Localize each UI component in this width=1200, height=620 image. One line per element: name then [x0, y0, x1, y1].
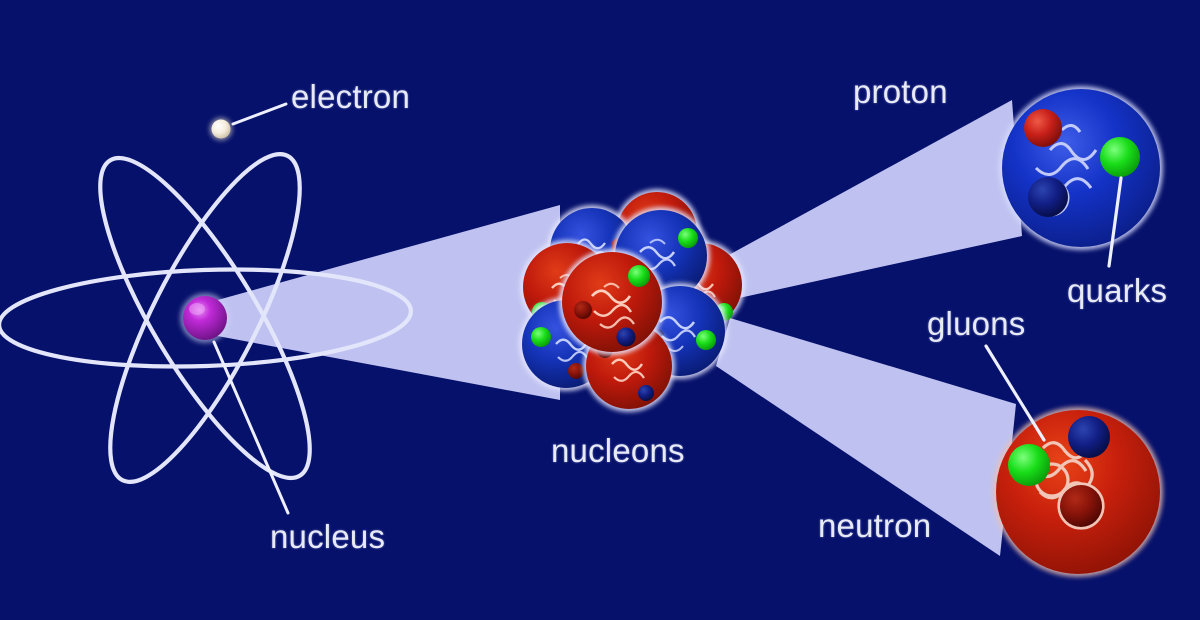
label-proton: proton	[853, 73, 948, 111]
nucleus-sphere	[180, 293, 230, 343]
neutron-detail	[993, 407, 1163, 577]
quark-green-neutron	[1008, 444, 1050, 486]
quark-red-proton	[1024, 109, 1062, 147]
quark-green-proton	[1100, 137, 1140, 177]
diagram-canvas: electron nucleus nucleons proton quarks …	[0, 0, 1200, 620]
label-electron: electron	[291, 78, 410, 116]
label-nucleus: nucleus	[270, 518, 385, 556]
label-quarks: quarks	[1067, 272, 1167, 310]
quark-blue-proton	[1028, 177, 1068, 217]
nucleon-proton-front-center	[559, 249, 665, 355]
quark-dark-neutron	[1060, 485, 1102, 527]
proton-detail	[999, 86, 1163, 250]
electron-sphere	[210, 118, 233, 141]
label-nucleons: nucleons	[551, 432, 685, 470]
label-neutron: neutron	[818, 507, 931, 545]
label-gluons: gluons	[927, 305, 1025, 343]
quark-blue-neutron	[1068, 416, 1110, 458]
